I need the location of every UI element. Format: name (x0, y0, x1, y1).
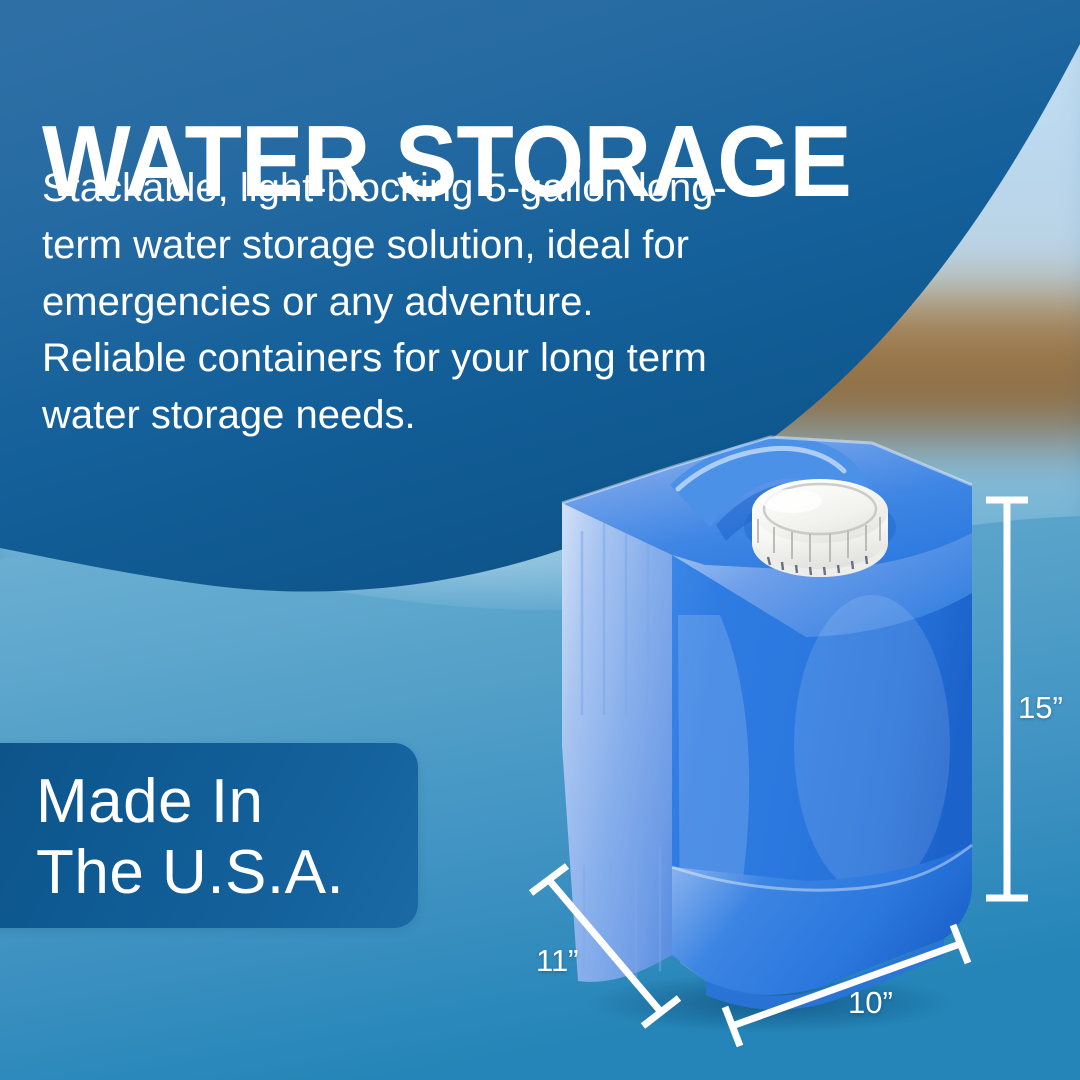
dimension-label-height: 15” (1018, 690, 1063, 726)
description-line-2: term water storage solution, ideal for (42, 217, 822, 274)
description-line-4: Reliable containers for your long term (42, 330, 822, 387)
cap-highlight (762, 489, 822, 513)
made-in-usa-line-1: Made In (36, 767, 344, 838)
made-in-usa-text: Made In The U.S.A. (36, 767, 344, 908)
water-jug-icon (520, 415, 1020, 1035)
description-line-1: Stackable, light-blocking 5-gallon long- (42, 160, 822, 217)
made-in-usa-line-2: The U.S.A. (36, 838, 344, 909)
infographic-canvas: 15” 11” 10” WATER STORAGE Stackable, lig… (0, 0, 1080, 1080)
made-in-usa-badge: Made In The U.S.A. (0, 743, 418, 928)
dimension-label-width: 10” (848, 985, 893, 1021)
dimension-label-depth: 11” (536, 943, 579, 979)
product-description: Stackable, light-blocking 5-gallon long-… (42, 160, 822, 444)
description-line-3: emergencies or any adventure. (42, 274, 822, 331)
jug-cap (744, 479, 896, 577)
jug-front-sheen (794, 595, 950, 895)
description-line-5: water storage needs. (42, 387, 822, 444)
